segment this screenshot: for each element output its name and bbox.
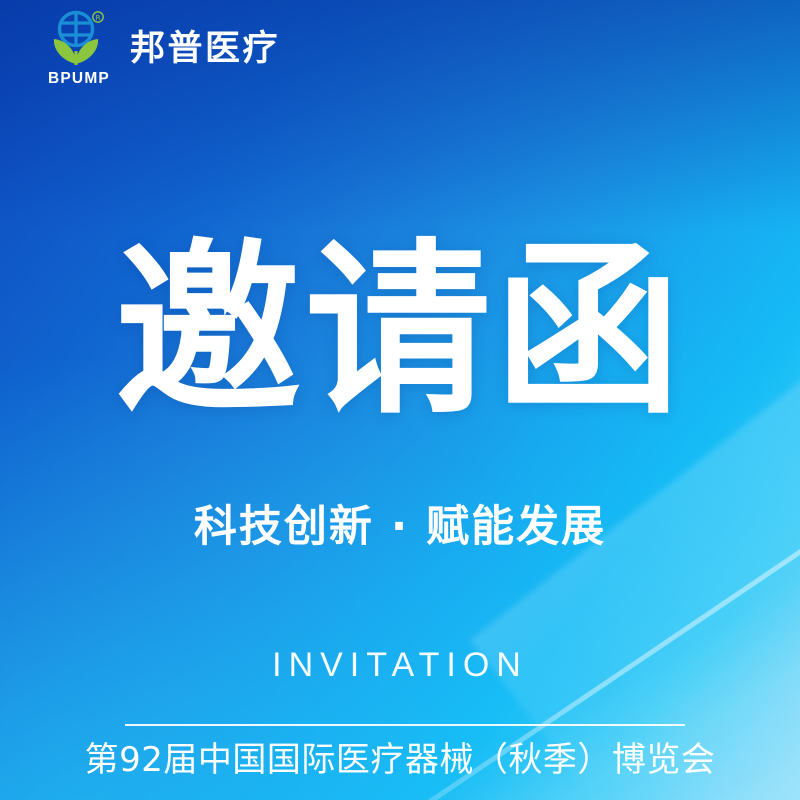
bpump-logo: R BPUMP (48, 8, 110, 90)
brand-header: R BPUMP 邦普医疗 (48, 8, 280, 90)
logo-emblem-svg: R (48, 8, 110, 70)
brand-name-cn: 邦普医疗 (130, 32, 280, 67)
invitation-subtitle: INVITATION (0, 648, 800, 682)
slogan: 科技创新 · 赋能发展 (0, 506, 800, 549)
leaf-stem (74, 51, 77, 65)
invitation-text: INVITATION (272, 648, 528, 682)
event-name-text: 第92届中国国际医疗器械（秋季）博览会 (85, 742, 716, 779)
footer-divider (125, 724, 685, 726)
ribbon-highlight-edge-1 (250, 81, 800, 800)
registered-mark-letter: R (96, 14, 101, 22)
event-name: 第92届中国国际医疗器械（秋季）博览会 (0, 742, 800, 779)
title-text: 邀请函 (115, 238, 685, 424)
invitation-poster: R BPUMP 邦普医疗 邀请函 科技创新 · 赋能发展 INVITATION … (0, 0, 800, 800)
page-title: 邀请函 (0, 238, 800, 424)
logo-wordmark: BPUMP (48, 71, 110, 87)
slogan-text: 科技创新 · 赋能发展 (194, 506, 606, 549)
